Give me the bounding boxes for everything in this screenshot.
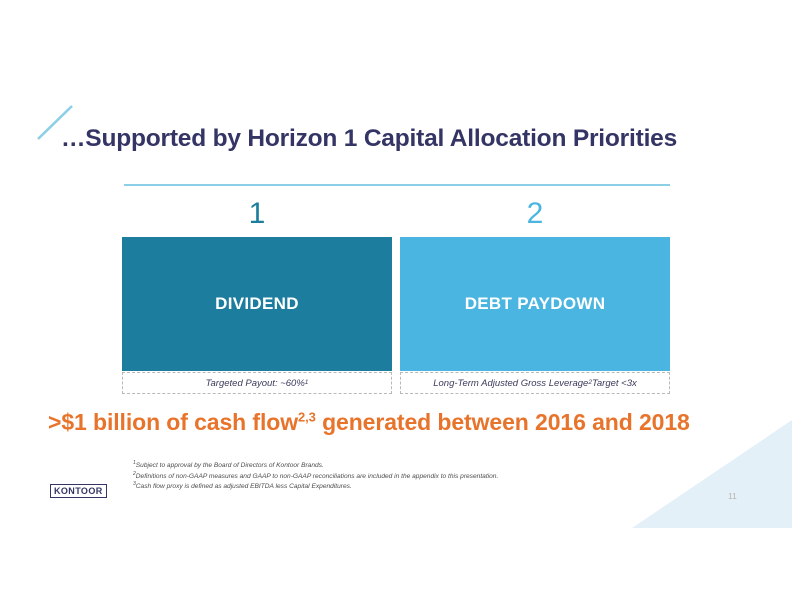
pillars-row: DIVIDEND DEBT PAYDOWN [122, 237, 670, 371]
cash-flow-headline: >$1 billion of cash flow2,3 generated be… [48, 409, 690, 436]
header-rule [124, 184, 670, 186]
caption-dividend: Targeted Payout: ~60%1 [122, 372, 392, 394]
pillar-box-debt-paydown[interactable]: DEBT PAYDOWN [400, 237, 670, 371]
corner-triangle-decoration [632, 420, 792, 528]
footnote-1-text: Subject to approval by the Board of Dire… [136, 462, 324, 469]
footnote-3: 3Cash flow proxy is defined as adjusted … [133, 482, 613, 493]
pillar-numbers-row: 1 2 [122, 195, 670, 235]
pillar-number-1: 1 [122, 195, 392, 235]
page-title: …Supported by Horizon 1 Capital Allocati… [61, 125, 677, 153]
headline-text-after: generated between 2016 and 2018 [316, 409, 690, 435]
pillar-number-2: 2 [400, 195, 670, 235]
footnote-3-text: Cash flow proxy is defined as adjusted E… [136, 483, 352, 490]
headline-footnote-marker: 2,3 [298, 409, 316, 424]
pillar-box-dividend[interactable]: DIVIDEND [122, 237, 392, 371]
headline-text-before: >$1 billion of cash flow [48, 409, 298, 435]
footnotes-block: 1Subject to approval by the Board of Dir… [133, 461, 613, 493]
slide-canvas: …Supported by Horizon 1 Capital Allocati… [0, 0, 792, 612]
page-number: 11 [728, 491, 737, 501]
pillar-captions-row: Targeted Payout: ~60%1 Long-Term Adjuste… [122, 372, 670, 394]
caption-debt-text-before: Long-Term Adjusted Gross Leverage [433, 378, 588, 389]
pillar-label-dividend: DIVIDEND [215, 294, 299, 314]
caption-debt-text-after: Target <3x [592, 378, 637, 389]
footnote-2: 2Definitions of non-GAAP measures and GA… [133, 472, 613, 483]
pillar-label-debt-paydown: DEBT PAYDOWN [465, 294, 606, 314]
caption-dividend-text: Targeted Payout: ~60% [206, 378, 305, 389]
caption-debt-paydown: Long-Term Adjusted Gross Leverage2 Targe… [400, 372, 670, 394]
footnote-2-text: Definitions of non-GAAP measures and GAA… [136, 473, 499, 480]
footnote-1: 1Subject to approval by the Board of Dir… [133, 461, 613, 472]
kontoor-logo: KONTOOR [50, 484, 107, 498]
